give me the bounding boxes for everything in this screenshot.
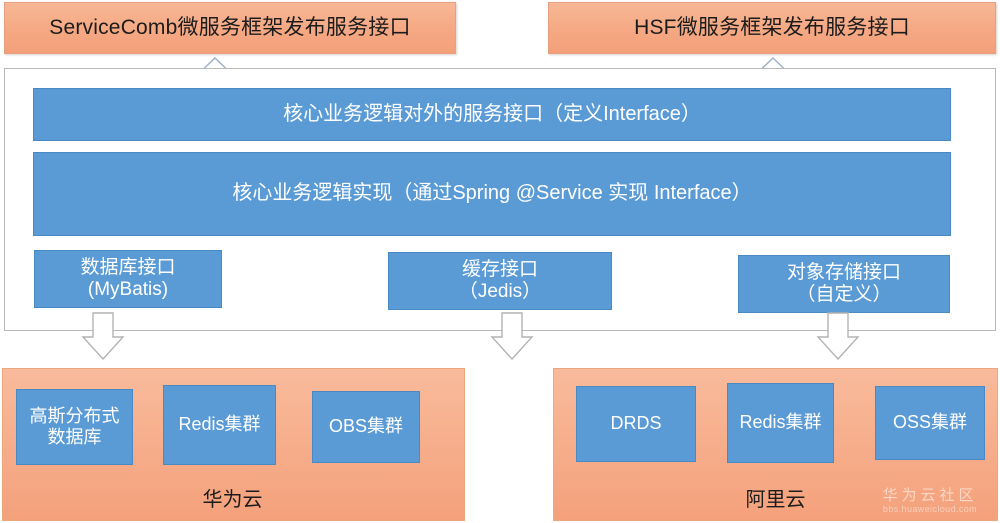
aliyun-service-drds: DRDS [576, 386, 696, 462]
object-storage-interface-line1: 对象存储接口 [787, 262, 901, 284]
watermark-sub-text: bbs.huaweicloud.com [866, 504, 994, 514]
db-interface-line1: 数据库接口 [80, 257, 175, 279]
header-label-servicecomb: ServiceComb微服务框架发布服务接口 [49, 16, 410, 41]
header-label-hsf: HSF微服务框架发布服务接口 [634, 16, 910, 41]
huawei-service-redis-cluster: Redis集群 [163, 385, 276, 465]
core-interface-label: 核心业务逻辑对外的服务接口（定义Interface） [283, 103, 701, 127]
header-box-servicecomb: ServiceComb微服务框架发布服务接口 [4, 2, 456, 54]
cache-interface-box: 缓存接口 （Jedis） [388, 252, 612, 310]
core-interface-box: 核心业务逻辑对外的服务接口（定义Interface） [33, 88, 951, 141]
aliyun-service-redis-cluster: Redis集群 [727, 383, 834, 463]
huawei-service-obs-cluster-label: OBS集群 [329, 416, 403, 437]
cache-interface-line1: 缓存接口 [462, 259, 538, 281]
aliyun-service-redis-cluster-label: Redis集群 [739, 412, 821, 433]
watermark: 华为云社区 bbs.huaweicloud.com [866, 487, 994, 514]
aliyun-service-drds-label: DRDS [610, 413, 661, 434]
cache-interface-line2: （Jedis） [459, 281, 541, 303]
huawei-service-gauss-db-label: 高斯分布式数据库 [23, 406, 126, 448]
huawei-cloud-label: 华为云 [0, 483, 465, 512]
object-storage-interface-line2: （自定义） [796, 284, 891, 306]
architecture-diagram: ServiceComb微服务框架发布服务接口 HSF微服务框架发布服务接口 核心… [0, 0, 1000, 523]
watermark-main-text: 华为云社区 [866, 487, 994, 504]
db-interface-box: 数据库接口 (MyBatis) [34, 250, 222, 308]
object-storage-interface-box: 对象存储接口 （自定义） [738, 255, 950, 313]
core-implementation-box: 核心业务逻辑实现（通过Spring @Service 实现 Interface） [33, 152, 951, 236]
header-box-hsf: HSF微服务框架发布服务接口 [548, 2, 996, 54]
core-implementation-label: 核心业务逻辑实现（通过Spring @Service 实现 Interface） [232, 182, 751, 206]
huawei-service-gauss-db: 高斯分布式数据库 [16, 389, 133, 465]
aliyun-service-oss-cluster: OSS集群 [875, 386, 985, 460]
huawei-service-redis-cluster-label: Redis集群 [178, 414, 260, 435]
db-interface-line2: (MyBatis) [88, 279, 168, 301]
aliyun-service-oss-cluster-label: OSS集群 [893, 412, 967, 433]
huawei-service-obs-cluster: OBS集群 [312, 391, 420, 463]
